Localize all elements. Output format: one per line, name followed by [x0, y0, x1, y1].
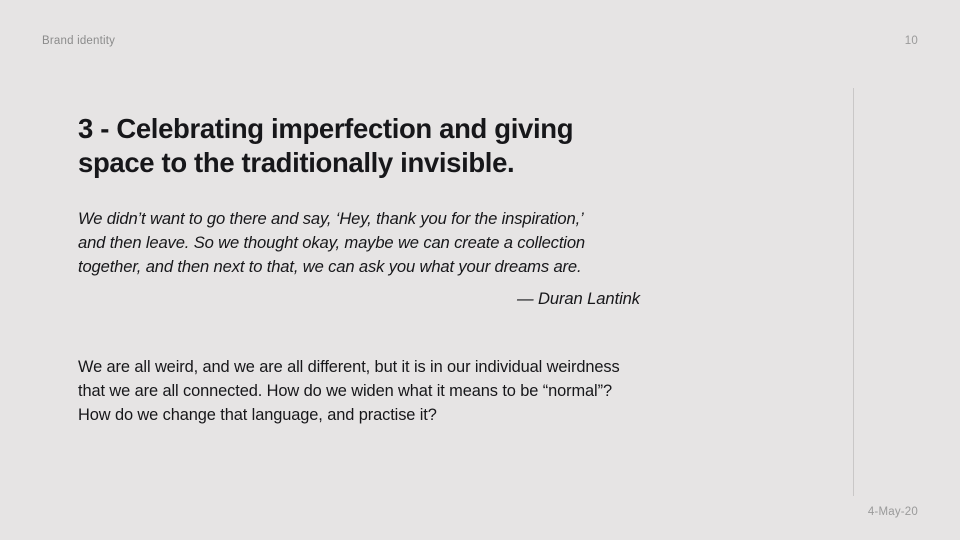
section-label: Brand identity	[42, 35, 115, 47]
body-line-3: How do we change that language, and prac…	[78, 403, 698, 427]
quote-attribution: — Duran Lantink	[78, 289, 640, 309]
heading-line-1: 3 - Celebrating imperfection and giving	[78, 113, 573, 144]
slide-canvas: Brand identity 10 3 - Celebrating imperf…	[0, 0, 960, 540]
slide-content: 3 - Celebrating imperfection and giving …	[78, 112, 718, 180]
footer-date: 4-May-20	[868, 506, 918, 518]
pull-quote: We didn’t want to go there and say, ‘Hey…	[78, 207, 678, 280]
body-paragraph: We are all weird, and we are all differe…	[78, 355, 698, 428]
heading-line-2: space to the traditionally invisible.	[78, 147, 514, 178]
quote-line-2: and then leave. So we thought okay, mayb…	[78, 231, 678, 255]
page-number: 10	[905, 35, 918, 47]
body-line-2: that we are all connected. How do we wid…	[78, 379, 698, 403]
quote-line-1: We didn’t want to go there and say, ‘Hey…	[78, 207, 678, 231]
body-line-1: We are all weird, and we are all differe…	[78, 355, 698, 379]
quote-line-3: together, and then next to that, we can …	[78, 255, 678, 279]
page-title: 3 - Celebrating imperfection and giving …	[78, 112, 618, 180]
vertical-divider-rule	[853, 88, 854, 496]
